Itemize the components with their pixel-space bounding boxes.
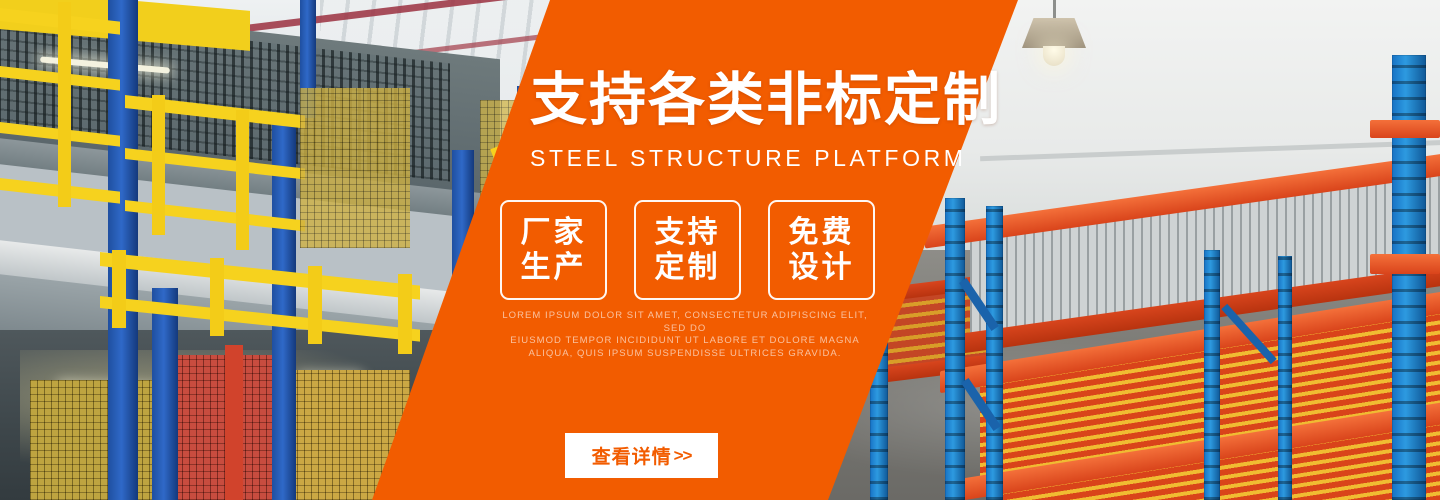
- badge-line-1: 支持: [655, 215, 721, 250]
- badge-line-2: 设计: [789, 250, 855, 285]
- headline-chinese: 支持各类非标定制: [530, 72, 990, 129]
- badge-line-2: 生产: [521, 250, 587, 285]
- description-line-1: LOREM IPSUM DOLOR SIT AMET, CONSECTETUR …: [500, 310, 870, 335]
- feature-badge-customization[interactable]: 支持 定制: [634, 200, 741, 300]
- feature-badge-group: 厂家 生产 支持 定制 免费 设计: [500, 200, 875, 300]
- badge-line-1: 免费: [789, 215, 855, 250]
- description-line-2: EIUSMOD TEMPOR INCIDIDUNT UT LABORE ET D…: [500, 335, 870, 348]
- badge-line-1: 厂家: [521, 215, 587, 250]
- feature-badge-free-design[interactable]: 免费 设计: [768, 200, 875, 300]
- banner-content: 支持各类非标定制 STEEL STRUCTURE PLATFORM 厂家 生产 …: [0, 0, 1440, 500]
- description-text: LOREM IPSUM DOLOR SIT AMET, CONSECTETUR …: [500, 310, 870, 360]
- cta-label: 查看详情: [592, 442, 672, 469]
- headline-english: STEEL STRUCTURE PLATFORM: [530, 145, 1000, 172]
- promo-banner: 支持各类非标定制 STEEL STRUCTURE PLATFORM 厂家 生产 …: [0, 0, 1440, 500]
- feature-badge-manufacturer[interactable]: 厂家 生产: [500, 200, 607, 300]
- description-line-3: ALIQUA, QUIS IPSUM SUSPENDISSE ULTRICES …: [500, 348, 870, 361]
- chevron-right-icon: >>: [674, 446, 692, 466]
- badge-line-2: 定制: [655, 250, 721, 285]
- view-details-button[interactable]: 查看详情 >>: [565, 433, 718, 478]
